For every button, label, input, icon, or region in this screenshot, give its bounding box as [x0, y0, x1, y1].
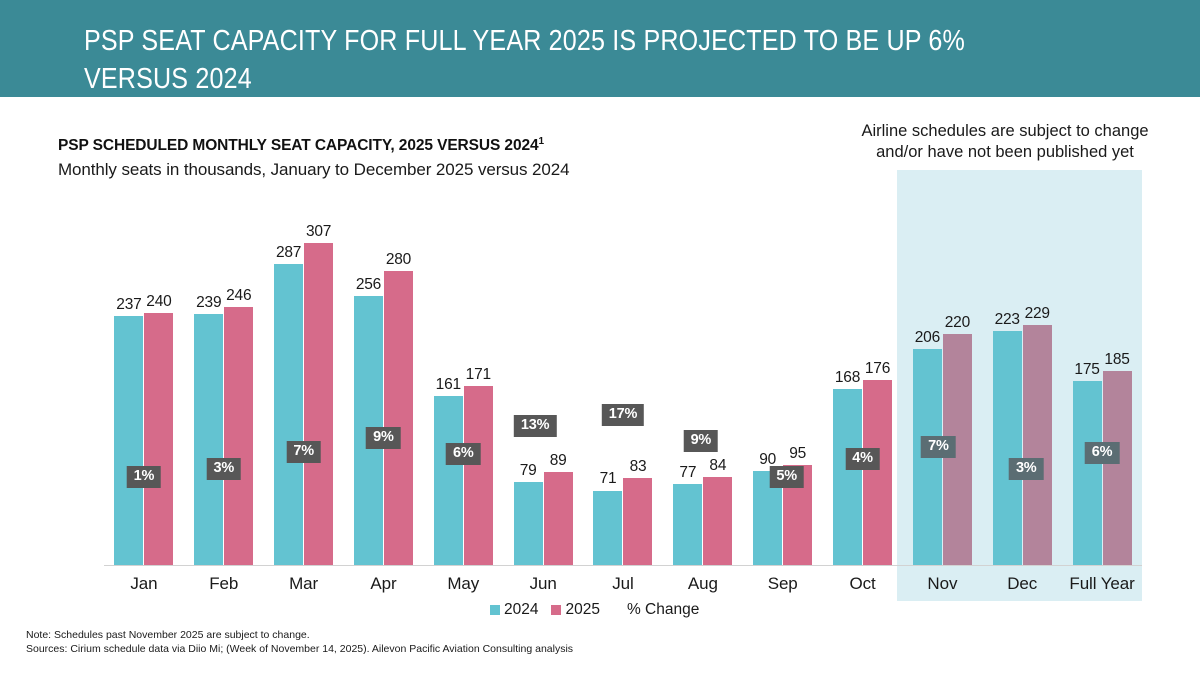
bar-group-apr: 2562809%Apr [344, 0, 424, 678]
legend-item-2024: 2024 [490, 601, 538, 619]
chart-legend: 2024 2025 % Change [490, 601, 699, 619]
footnotes: Note: Schedules past November 2025 are s… [26, 629, 573, 656]
bar-value-label-2025: 185 [1100, 351, 1135, 369]
bar-2024[interactable] [514, 482, 543, 565]
bar-group-may: 1611716%May [423, 0, 503, 678]
bar-group-mar: 2873077%Mar [264, 0, 344, 678]
bar-2025[interactable] [703, 477, 732, 565]
bar-2024[interactable] [194, 314, 223, 565]
bar-value-label-2024: 256 [351, 276, 386, 294]
x-axis-label-full-year: Full Year [1062, 574, 1142, 594]
pct-change-badge: 6% [1085, 442, 1120, 464]
x-axis-label-oct: Oct [823, 574, 903, 594]
bar-value-label-2025: 83 [620, 458, 655, 476]
pct-change-badge: 13% [514, 415, 556, 437]
bar-2024[interactable] [593, 491, 622, 566]
x-axis-label-apr: Apr [344, 574, 424, 594]
bar-value-label-2024: 287 [271, 244, 306, 262]
legend-item-2025: 2025 [551, 601, 599, 619]
bar-2025[interactable] [623, 478, 652, 565]
pct-change-badge: 6% [446, 443, 481, 465]
bar-2025[interactable] [224, 307, 253, 565]
bar-value-label-2025: 176 [860, 360, 895, 378]
bar-group-aug: 77849%Aug [663, 0, 743, 678]
pct-change-badge: 5% [769, 466, 804, 488]
bar-group-dec: 2232293%Dec [982, 0, 1062, 678]
x-axis-label-feb: Feb [184, 574, 264, 594]
pct-change-badge: 3% [1009, 458, 1044, 480]
pct-change-badge: 7% [286, 441, 321, 463]
bar-2025[interactable] [464, 386, 493, 565]
bar-group-jan: 2372401%Jan [104, 0, 184, 678]
bar-2024[interactable] [1073, 381, 1102, 565]
legend-swatch-2024-icon [490, 605, 500, 615]
bar-value-label-2025: 229 [1020, 305, 1055, 323]
bar-value-label-2025: 171 [461, 366, 496, 384]
pct-change-badge: 17% [602, 404, 644, 426]
footnote-sources: Sources: Cirium schedule data via Diio M… [26, 643, 573, 657]
bar-2025[interactable] [384, 271, 413, 565]
bar-2025[interactable] [1023, 325, 1052, 565]
legend-label-2024: 2024 [504, 601, 538, 619]
bar-2024[interactable] [114, 316, 143, 565]
bar-2024[interactable] [993, 331, 1022, 565]
bar-2025[interactable] [144, 313, 173, 565]
bar-group-jun: 798913%Jun [503, 0, 583, 678]
x-axis-label-jul: Jul [583, 574, 663, 594]
legend-label-pct-change: % Change [627, 601, 699, 619]
x-axis-label-may: May [423, 574, 503, 594]
bar-2024[interactable] [434, 396, 463, 565]
bar-value-label-2025: 280 [381, 251, 416, 269]
bar-value-label-2025: 246 [221, 287, 256, 305]
pct-change-badge: 9% [684, 430, 719, 452]
pct-change-badge: 1% [127, 466, 162, 488]
x-axis-label-sep: Sep [743, 574, 823, 594]
bar-2025[interactable] [544, 472, 573, 565]
x-axis-label-jun: Jun [503, 574, 583, 594]
x-axis-label-mar: Mar [264, 574, 344, 594]
bar-value-label-2025: 220 [940, 314, 975, 332]
x-axis-label-dec: Dec [982, 574, 1062, 594]
bar-value-label-2025: 84 [700, 457, 735, 475]
bar-2024[interactable] [274, 264, 303, 565]
bar-value-label-2025: 89 [541, 452, 576, 470]
bar-group-feb: 2392463%Feb [184, 0, 264, 678]
x-axis-label-jan: Jan [104, 574, 184, 594]
bar-value-label-2025: 95 [780, 445, 815, 463]
bar-2024[interactable] [833, 389, 862, 565]
bar-2025[interactable] [1103, 371, 1132, 565]
bar-value-label-2025: 307 [301, 223, 336, 241]
legend-label-2025: 2025 [565, 601, 599, 619]
bar-2025[interactable] [304, 243, 333, 565]
legend-swatch-2025-icon [551, 605, 561, 615]
x-axis-label-aug: Aug [663, 574, 743, 594]
pct-change-badge: 7% [921, 436, 956, 458]
bar-group-sep: 90955%Sep [743, 0, 823, 678]
pct-change-badge: 9% [366, 427, 401, 449]
chart-plot-area: 2372401%Jan2392463%Feb2873077%Mar2562809… [0, 0, 1200, 678]
bar-group-jul: 718317%Jul [583, 0, 663, 678]
pct-change-badge: 4% [845, 448, 880, 470]
bar-2024[interactable] [673, 484, 702, 565]
pct-change-badge: 3% [206, 458, 241, 480]
x-axis-label-nov: Nov [902, 574, 982, 594]
bar-group-nov: 2062207%Nov [902, 0, 982, 678]
bar-2025[interactable] [863, 380, 892, 565]
bar-group-full-year: 1751856%Full Year [1062, 0, 1142, 678]
bar-value-label-2025: 240 [141, 293, 176, 311]
bar-group-oct: 1681764%Oct [823, 0, 903, 678]
footnote-note: Note: Schedules past November 2025 are s… [26, 629, 573, 643]
